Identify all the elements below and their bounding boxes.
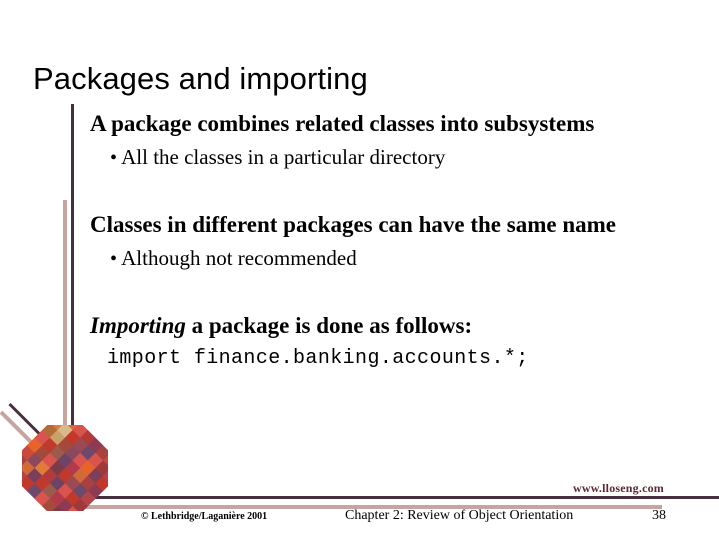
sub-bullet-2-text: Although not recommended	[121, 246, 357, 270]
content-block-2: Classes in different packages can have t…	[90, 211, 690, 272]
site-url-label: www.lloseng.com	[573, 481, 664, 496]
page-title: Packages and importing	[33, 61, 368, 97]
content-block-1: A package combines related classes into …	[90, 110, 690, 171]
bullet-lead-3-text: a package is done as follows:	[186, 313, 472, 338]
code-snippet: import finance.banking.accounts.*;	[90, 346, 690, 372]
spacer	[90, 171, 690, 211]
slide-canvas: Packages and importing A package combine…	[0, 0, 719, 539]
footer-chapter-title: Chapter 2: Review of Object Orientation	[345, 508, 573, 524]
bullet-lead-3-emphasis: Importing	[90, 313, 186, 338]
decor-vertical-line-dark	[71, 104, 74, 434]
footer-page-number: 38	[652, 508, 666, 524]
slide-body: A package combines related classes into …	[90, 110, 690, 372]
decorative-mosaic-graphic	[22, 425, 108, 511]
decor-horizontal-line-dark	[74, 496, 719, 499]
sub-bullet-1: • All the classes in a particular direct…	[90, 144, 690, 171]
bullet-lead-1: A package combines related classes into …	[90, 110, 690, 138]
bullet-lead-3: Importing a package is done as follows:	[90, 312, 690, 340]
bullet-lead-2: Classes in different packages can have t…	[90, 211, 690, 239]
sub-bullet-2: • Although not recommended	[90, 245, 690, 272]
bullet-marker-icon: •	[110, 147, 117, 169]
decor-vertical-line-light	[63, 200, 67, 442]
spacer	[90, 272, 690, 312]
bullet-marker-icon: •	[110, 248, 117, 270]
sub-bullet-1-text: All the classes in a particular director…	[121, 145, 445, 169]
footer-copyright: © Lethbridge/Laganière 2001	[141, 511, 267, 522]
content-block-3: Importing a package is done as follows: …	[90, 312, 690, 372]
